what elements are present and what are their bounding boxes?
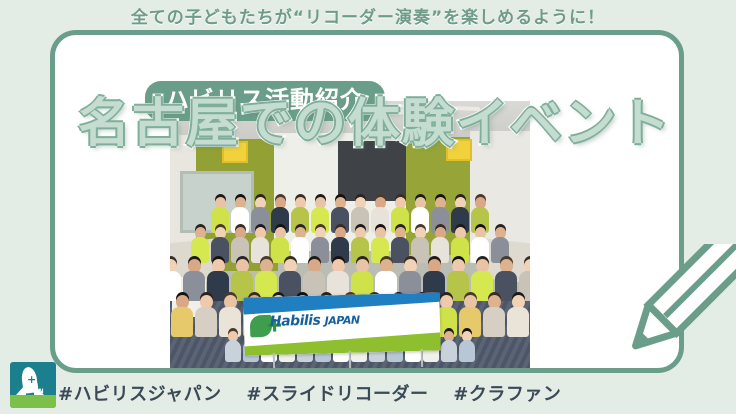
photo-person [471,227,489,263]
photo-person [371,227,389,263]
photo-person [351,227,369,263]
photo-person [311,227,329,263]
logo-initials: +H [27,373,45,386]
photo-person [441,331,457,362]
photo-person [231,227,249,263]
photo-person [251,227,269,263]
photo-person [291,227,309,263]
photo-person [331,227,349,263]
photo-person [191,227,209,263]
photo-person [271,227,289,263]
banner-brand-text: Habilis JAPAN [270,312,360,330]
banner-pole-right [421,349,423,367]
hashtag-2: #クラファン [453,384,561,405]
photo-habilis-banner: Habilis JAPAN [243,292,440,355]
photo-person-body [459,340,475,362]
photo-person-body [441,340,457,362]
pencil-icon [586,244,736,394]
photo-person [225,331,241,362]
logo-country: JAPAN [10,388,56,395]
hashtag-0: #ハビリスジャパン [58,384,222,405]
photo-person [491,227,509,263]
logo-green-band [10,395,56,408]
photo-person [459,331,475,362]
hashtag-1: #スライドリコーダー [246,384,428,405]
banner-pole-mid [349,351,351,368]
habilis-japan-logo: +H JAPAN [10,362,56,408]
photo-person-body [225,340,241,362]
top-banner-text: 全ての子どもたちが“リコーダー演奏”を楽しめるように！ [0,3,736,28]
photo-person [411,227,429,263]
banner-country: JAPAN [325,314,360,328]
slide-canvas: 全ての子どもたちが“リコーダー演奏”を楽しめるように！ [0,0,736,414]
page-title: 名古屋での体験イベント [78,98,672,150]
photo-person [211,227,229,263]
photo-person [451,227,469,263]
photo-person [391,227,409,263]
banner-brand: Habilis [270,313,321,330]
photo-person [431,227,449,263]
hashtag-list: #ハビリスジャパン #スライドリコーダー #クラファン [58,380,579,406]
